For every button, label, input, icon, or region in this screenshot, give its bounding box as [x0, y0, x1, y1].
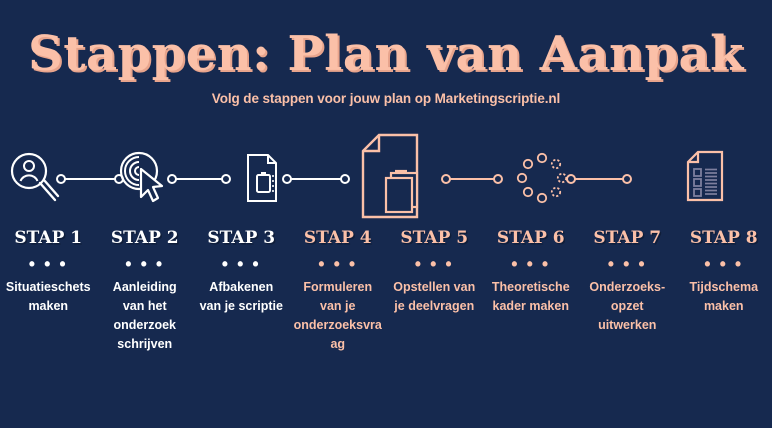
step-column-2: STAP 2 • • • Aanleiding van het onderzoe…: [97, 228, 194, 354]
step-icon-cell-1: [8, 132, 105, 224]
page-subtitle: Volg de stappen voor jouw plan op Market…: [0, 91, 772, 106]
step-column-1: STAP 1 • • • Situatieschets maken: [0, 228, 97, 316]
connector-3-4: [282, 178, 350, 180]
step-column-7: STAP 7 • • • Onderzoeks- opzet uitwerken: [579, 228, 676, 335]
cursor-click-target-icon: [115, 132, 175, 224]
step-separator-2: • • •: [97, 258, 194, 270]
step-description-4: Formuleren van je onderzoeksvraag: [290, 278, 387, 354]
page-title: Stappen: Plan van Aanpak: [0, 26, 772, 82]
document-stacked-pages-icon: [355, 132, 435, 224]
step-column-4: STAP 4 • • • Formuleren van je onderzoek…: [290, 228, 387, 354]
step-label-2: STAP 2: [97, 228, 194, 248]
step-description-8: Tijdschema maken: [676, 278, 772, 316]
step-icon-cell-6: [684, 132, 772, 224]
step-label-5: STAP 5: [386, 228, 483, 248]
step-label-1: STAP 1: [0, 228, 97, 248]
step-description-5: Opstellen van je deelvragen: [386, 278, 483, 316]
step-column-5: STAP 5 • • • Opstellen van je deelvragen: [386, 228, 483, 316]
step-separator-6: • • •: [483, 258, 580, 270]
connector-5-6: [566, 178, 632, 180]
connector-2-3: [167, 178, 231, 180]
step-column-3: STAP 3 • • • Afbakenen van je scriptie: [193, 228, 290, 316]
step-icon-cell-2: [115, 132, 212, 224]
step-icon-cell-5: [516, 132, 613, 224]
checklist-document-icon: [684, 132, 744, 224]
step-separator-4: • • •: [290, 258, 387, 270]
step-label-6: STAP 6: [483, 228, 580, 248]
step-column-8: STAP 8 • • • Tijdschema maken: [676, 228, 772, 316]
step-separator-3: • • •: [193, 258, 290, 270]
step-description-6: Theoretische kader maken: [483, 278, 580, 316]
step-separator-1: • • •: [0, 258, 97, 270]
step-separator-8: • • •: [676, 258, 772, 270]
infographic-canvas: Stappen: Plan van Aanpak Volg de stappen…: [0, 0, 772, 428]
step-column-6: STAP 6 • • • Theoretische kader maken: [483, 228, 580, 316]
step-icon-cell-4: [355, 132, 495, 224]
step-label-7: STAP 7: [579, 228, 676, 248]
step-description-3: Afbakenen van je scriptie: [193, 278, 290, 316]
connector-4-5: [441, 178, 503, 180]
step-icon-cell-3: [238, 132, 335, 224]
step-label-3: STAP 3: [193, 228, 290, 248]
step-columns: STAP 1 • • • Situatieschets maken STAP 2…: [0, 228, 772, 428]
step-separator-7: • • •: [579, 258, 676, 270]
connector-1-2: [56, 178, 124, 180]
step-label-8: STAP 8: [676, 228, 772, 248]
step-description-1: Situatieschets maken: [0, 278, 97, 316]
step-icon-strip: [0, 132, 772, 224]
step-label-4: STAP 4: [290, 228, 387, 248]
step-description-7: Onderzoeks- opzet uitwerken: [579, 278, 676, 335]
step-description-2: Aanleiding van het onderzoek schrijven: [97, 278, 194, 354]
step-separator-5: • • •: [386, 258, 483, 270]
